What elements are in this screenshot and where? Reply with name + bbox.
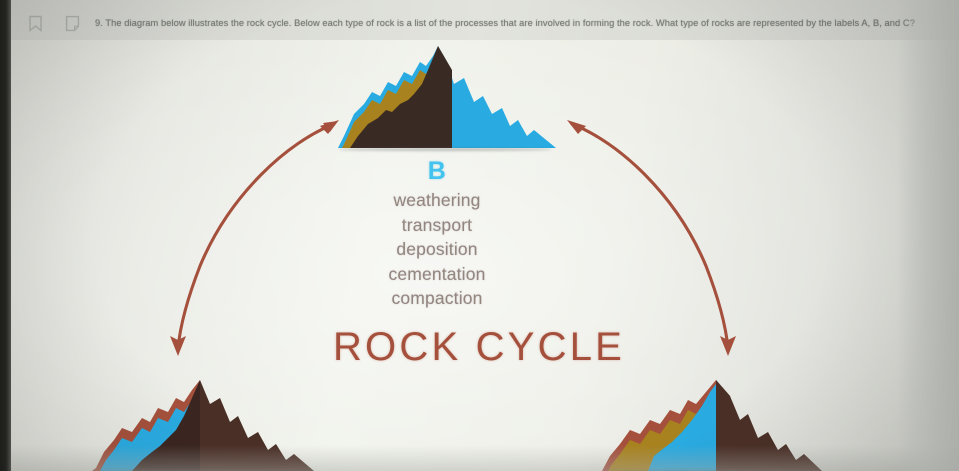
process-item: cementation bbox=[337, 262, 537, 287]
left-dark-edge bbox=[0, 0, 11, 471]
mountain-top-center bbox=[334, 44, 562, 152]
process-item: deposition bbox=[337, 237, 537, 262]
screenshot-root: 9. The diagram below illustrates the roc… bbox=[0, 0, 959, 471]
process-item: compaction bbox=[337, 286, 537, 311]
process-item: transport bbox=[337, 213, 537, 238]
mountain-bottom-right bbox=[596, 376, 824, 471]
mountain-shadow bbox=[338, 148, 552, 151]
label-b: B bbox=[337, 157, 537, 186]
process-item: weathering bbox=[337, 188, 537, 213]
right-edge-shade bbox=[897, 0, 959, 471]
diagram-title: ROCK CYCLE bbox=[229, 325, 729, 370]
process-list: weathering transport deposition cementat… bbox=[337, 188, 537, 311]
mountain-bottom-left bbox=[88, 376, 316, 471]
rock-cycle-diagram: B weathering transport deposition cement… bbox=[0, 0, 959, 471]
